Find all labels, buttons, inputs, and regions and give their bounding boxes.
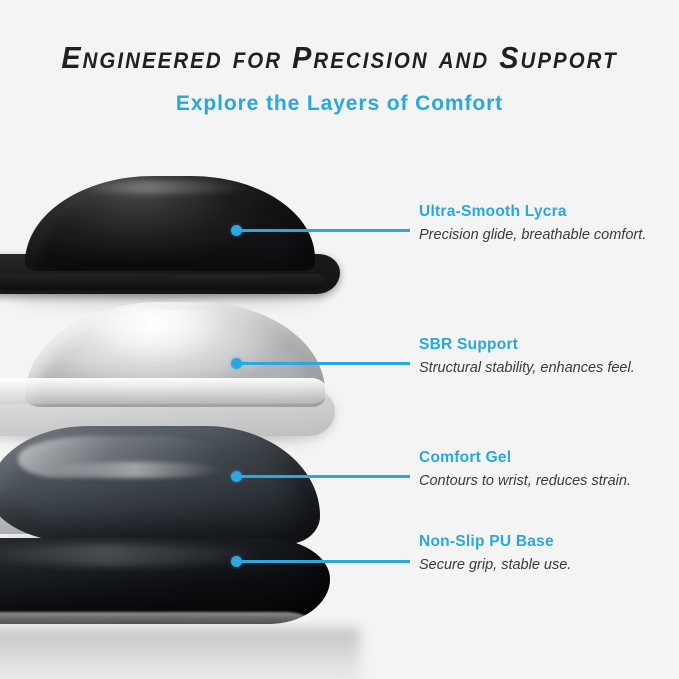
callout-connector-lycra: [238, 229, 410, 232]
callout-title-gel: Comfort Gel: [419, 449, 679, 467]
surface-reflection: [0, 628, 360, 679]
lycra-lip: [0, 274, 325, 290]
infographic-page: Engineered for Precision and Support Exp…: [0, 0, 679, 679]
page-subtitle: Explore the Layers of Comfort: [0, 92, 679, 116]
callout-sbr: SBR Support Structural stability, enhanc…: [419, 336, 679, 378]
callout-description-gel: Contours to wrist, reduces strain.: [419, 472, 679, 491]
callout-connector-sbr: [238, 362, 410, 365]
callout-connector-gel: [238, 475, 410, 478]
callout-lycra: Ultra-Smooth Lycra Precision glide, brea…: [419, 203, 679, 245]
page-title: Engineered for Precision and Support: [24, 40, 655, 76]
sbr-edge: [0, 378, 327, 404]
gel-highlight-secondary: [48, 462, 223, 478]
callout-description-lycra: Precision glide, breathable comfort.: [419, 226, 679, 245]
callout-title-lycra: Ultra-Smooth Lycra: [419, 203, 679, 221]
callout-title-sbr: SBR Support: [419, 336, 679, 354]
callout-connector-pu-base: [238, 560, 410, 563]
product-layer-stack: [0, 150, 430, 650]
callout-title-pu-base: Non-Slip PU Base: [419, 533, 679, 551]
lycra-dome: [25, 176, 315, 271]
callout-description-sbr: Structural stability, enhances feel.: [419, 359, 679, 378]
callout-pu-base: Non-Slip PU Base Secure grip, stable use…: [419, 533, 679, 575]
callout-gel: Comfort Gel Contours to wrist, reduces s…: [419, 449, 679, 491]
callout-description-pu-base: Secure grip, stable use.: [419, 556, 679, 575]
product-layer-lycra: [0, 176, 390, 316]
